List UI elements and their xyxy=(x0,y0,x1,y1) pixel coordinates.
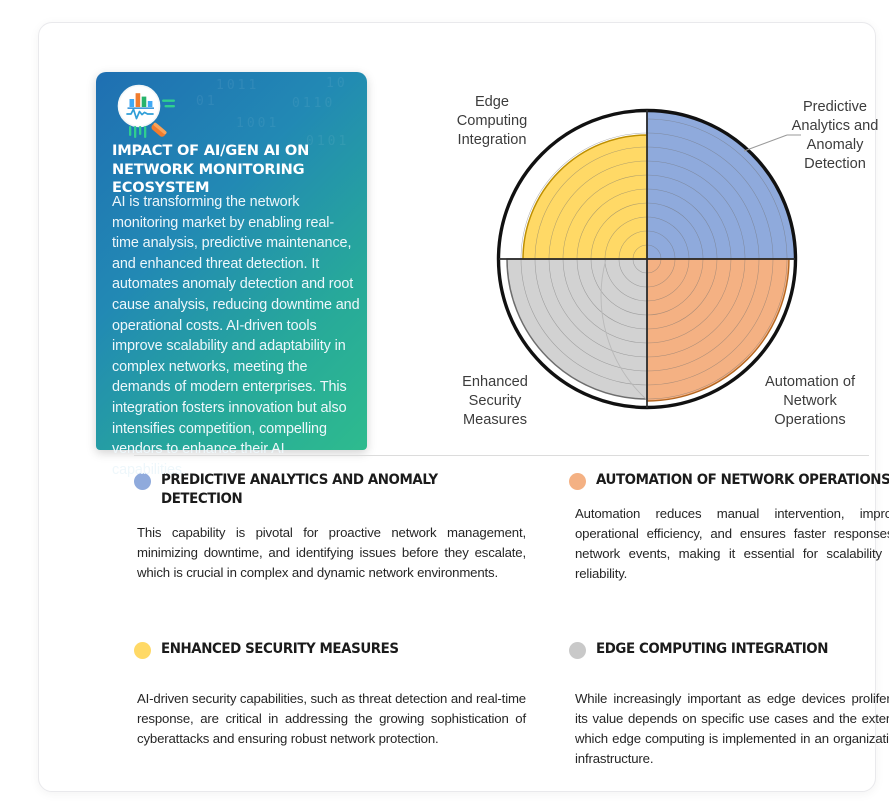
legend-color-dot xyxy=(569,473,586,490)
legend-item-predictive-analytics: PREDICTIVE ANALYTICS AND ANOMALY DETECTI… xyxy=(134,471,534,583)
label-line: Security xyxy=(469,393,522,409)
chart-label-enhanced-security: Enhanced Security Measures xyxy=(462,374,528,428)
chart-slice-predictive-analytics xyxy=(647,111,795,259)
legend-description: While increasingly important as edge dev… xyxy=(569,689,889,769)
legend-description: AI-driven security capabilities, such as… xyxy=(134,689,526,749)
legend-title: ENHANCED SECURITY MEASURES xyxy=(161,640,399,659)
legend-item-automation: AUTOMATION OF NETWORK OPERATIONS Automat… xyxy=(569,471,889,584)
analytics-magnifier-icon xyxy=(112,81,184,143)
label-line: Predictive xyxy=(803,99,867,115)
impact-info-card: 1011 0110 1001 0101 01 10 xyxy=(96,72,367,450)
legend-header: EDGE COMPUTING INTEGRATION xyxy=(569,640,889,659)
card-title: IMPACT OF AI/GEN AI ON NETWORK MONITORIN… xyxy=(112,142,356,198)
card-body-text: AI is transforming the network monitorin… xyxy=(112,192,360,480)
legend-title: EDGE COMPUTING INTEGRATION xyxy=(596,640,828,659)
chart-label-automation: Automation of Network Operations xyxy=(765,374,856,428)
label-line: Measures xyxy=(463,412,527,428)
radial-quadrant-chart: Edge Computing Integration Predictive An… xyxy=(389,73,889,443)
legend-header: ENHANCED SECURITY MEASURES xyxy=(134,640,534,659)
leader-line-predictive xyxy=(744,135,787,151)
legend-item-edge-computing: EDGE COMPUTING INTEGRATION While increas… xyxy=(569,640,889,769)
legend-item-enhanced-security: ENHANCED SECURITY MEASURES AI-driven sec… xyxy=(134,640,534,749)
legend-title: AUTOMATION OF NETWORK OPERATIONS xyxy=(596,471,889,490)
label-line: Network xyxy=(783,393,837,409)
chart-label-edge-computing: Edge Computing Integration xyxy=(457,94,528,148)
label-line: Anomaly xyxy=(807,137,864,153)
chart-slice-enhanced-security-area xyxy=(507,259,647,399)
label-line: Enhanced xyxy=(462,374,528,390)
label-line: Operations xyxy=(774,412,845,428)
label-line: Detection xyxy=(804,156,866,172)
legend-description: This capability is pivotal for proactive… xyxy=(134,523,526,583)
label-line: Computing xyxy=(457,113,528,129)
main-panel: 1011 0110 1001 0101 01 10 xyxy=(38,22,876,792)
legend-color-dot xyxy=(569,642,586,659)
legend-color-dot xyxy=(134,642,151,659)
chart-label-predictive-analytics: Predictive Analytics and Anomaly Detecti… xyxy=(792,99,879,172)
label-line: Automation of xyxy=(765,374,856,390)
label-line: Analytics and xyxy=(792,118,879,134)
legend-header: AUTOMATION OF NETWORK OPERATIONS xyxy=(569,471,889,490)
label-line: Integration xyxy=(458,132,527,148)
legend-description: Automation reduces manual intervention, … xyxy=(569,504,889,584)
label-line: Edge xyxy=(475,94,509,110)
